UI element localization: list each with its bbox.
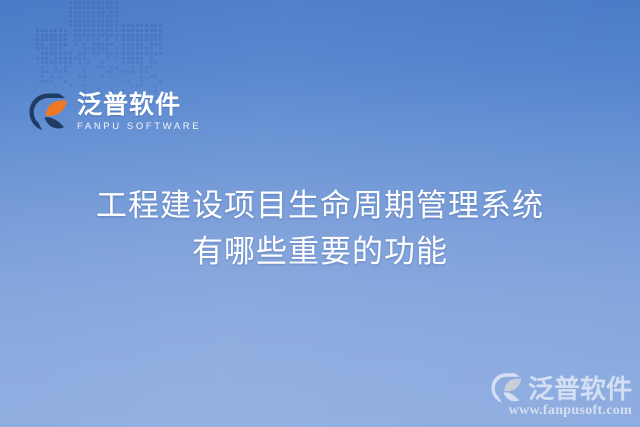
pixel-city-skyline-decoration: [36, 6, 186, 98]
headline-line-1: 工程建设项目生命周期管理系统: [0, 183, 640, 229]
skyline-building-right: [122, 24, 163, 98]
brand-logo: 泛普软件 FANPU SOFTWARE: [28, 92, 201, 132]
headline-line-2: 有哪些重要的功能: [0, 229, 640, 275]
fanpu-swirl-icon: [490, 372, 524, 404]
fanpu-swirl-icon: [28, 92, 70, 132]
skyline-building-center: [69, 0, 120, 98]
watermark-name-cn: 泛普软件: [528, 369, 632, 406]
brand-name-en: FANPU SOFTWARE: [77, 122, 201, 132]
site-watermark: 泛普软件 www.fanpusoft.com: [490, 369, 632, 419]
brand-name-cn: 泛普软件: [77, 92, 201, 117]
watermark-url: www.fanpusoft.com: [490, 403, 632, 419]
brand-text-block: 泛普软件 FANPU SOFTWARE: [77, 92, 201, 132]
slide-canvas: 泛普软件 FANPU SOFTWARE 工程建设项目生命周期管理系统 有哪些重要…: [0, 0, 640, 427]
watermark-logo-row: 泛普软件: [490, 369, 632, 406]
headline: 工程建设项目生命周期管理系统 有哪些重要的功能: [0, 183, 640, 275]
skyline-building-left: [36, 29, 68, 98]
